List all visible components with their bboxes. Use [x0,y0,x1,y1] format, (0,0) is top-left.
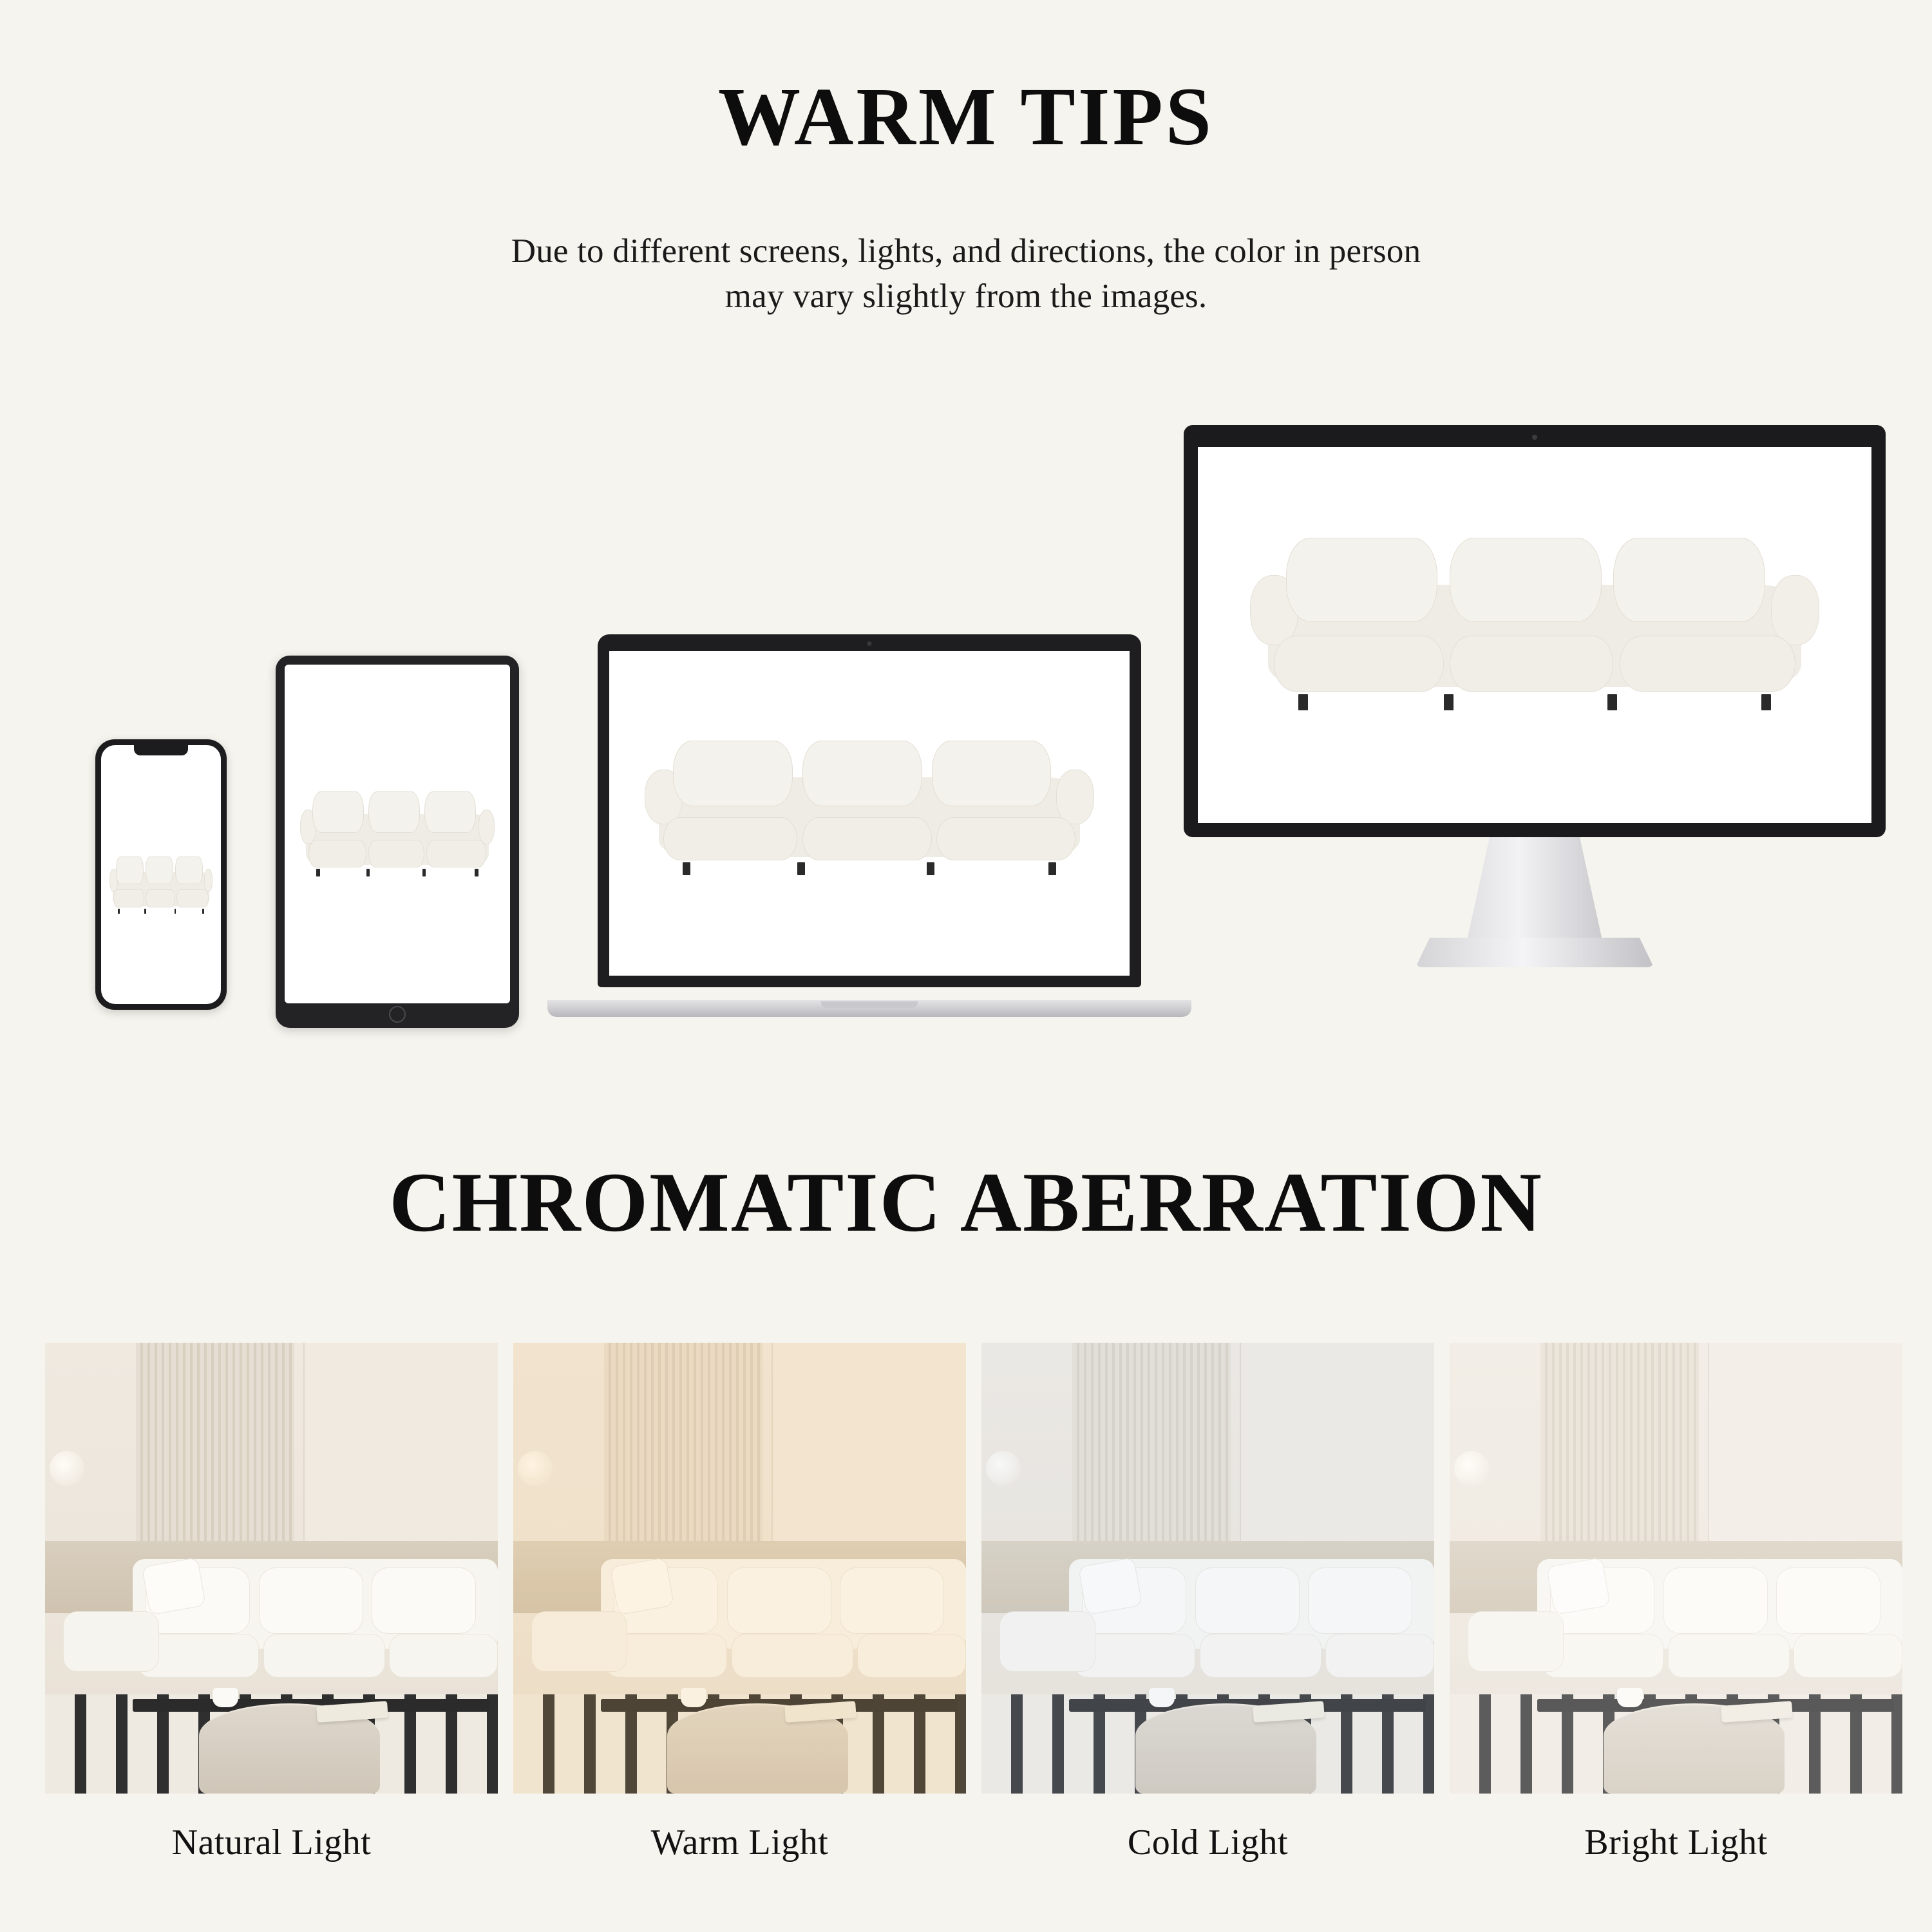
page-title: WARM TIPS [0,70,1932,164]
device-laptop [547,634,1191,1034]
lighting-caption: Warm Light [513,1822,966,1863]
device-monitor [1184,425,1886,1043]
laptop-lid [598,634,1141,987]
lighting-tile: Bright Light [1450,1343,1902,1863]
section-title-chromatic-aberration: CHROMATIC ABERRATION [0,1153,1932,1251]
wall-lamp-icon [1454,1451,1489,1486]
phone-screen [101,745,221,1004]
phone-sofa-image [106,849,216,927]
room-photo-warm [513,1343,966,1794]
description-line-1: Due to different screens, lights, and di… [511,232,1421,270]
monitor-stand-base [1416,938,1654,967]
tablet-sofa-image [294,780,501,895]
wall-lamp-icon [518,1451,553,1486]
lighting-tile: Natural Light [45,1343,498,1863]
monitor-camera-icon [1532,435,1537,440]
wall-lamp-icon [50,1451,84,1486]
product-info-page: WARM TIPS Due to different screens, ligh… [0,0,1932,1932]
room-photo-bright [1450,1343,1902,1794]
laptop-sofa-image [630,723,1108,904]
page-description: Due to different screens, lights, and di… [0,229,1932,319]
tablet-screen [285,665,510,1003]
monitor-stand-neck [1454,837,1615,940]
lighting-caption: Cold Light [981,1822,1434,1863]
monitor-bezel [1184,425,1886,837]
tablet-home-button [389,1006,406,1023]
laptop-screen [609,651,1130,976]
description-line-2: may vary slightly from the images. [0,274,1932,319]
lighting-caption: Bright Light [1450,1822,1902,1863]
lighting-comparison-row: Natural Light Warm Light [45,1343,1887,1863]
lighting-tile: Warm Light [513,1343,966,1863]
device-tablet [276,656,519,1028]
room-photo-cold [981,1343,1434,1794]
laptop-trackpad-notch [821,1001,918,1008]
monitor-screen [1198,447,1871,823]
wall-lamp-icon [986,1451,1021,1486]
monitor-sofa-image [1231,515,1837,748]
device-phone [95,739,227,1010]
room-photo-natural [45,1343,498,1794]
lighting-tile: Cold Light [981,1343,1434,1863]
phone-notch [134,745,188,755]
lighting-caption: Natural Light [45,1822,498,1863]
laptop-camera-icon [867,641,872,646]
